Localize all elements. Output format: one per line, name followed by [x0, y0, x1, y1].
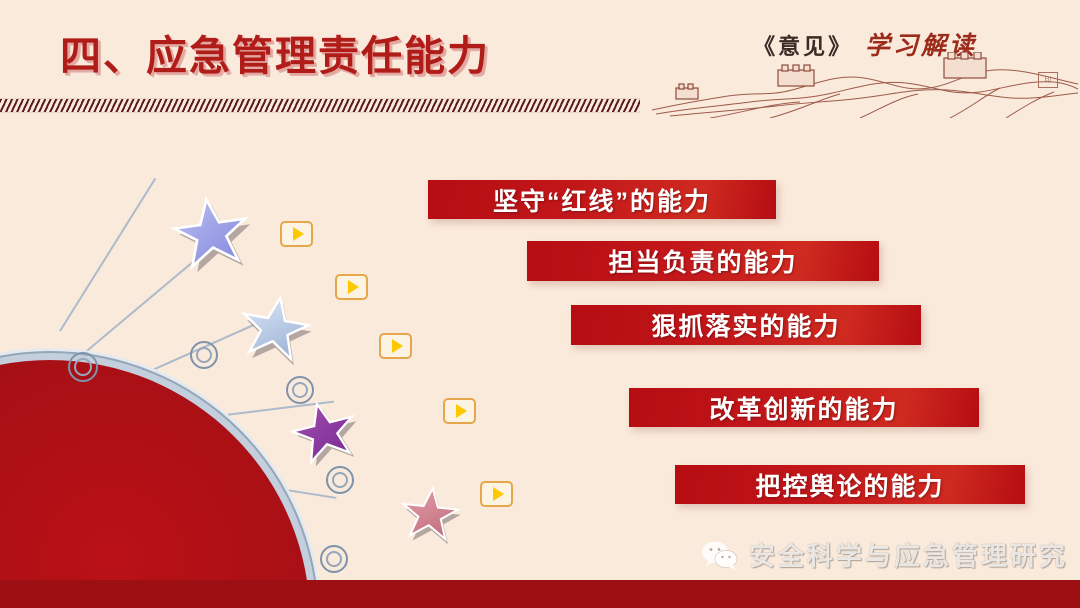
seal-icon: 印 [1038, 72, 1058, 88]
slide-canvas: 四、应急管理责任能力 《意见》 学习解读 [0, 0, 1080, 608]
capability-banner[interactable]: 坚守“红线”的能力 [428, 180, 776, 219]
wechat-icon [700, 540, 740, 570]
capability-banner-label: 坚守“红线”的能力 [493, 182, 711, 218]
capability-banner-label: 把控舆论的能力 [755, 467, 944, 503]
header-decoration: 《意见》 学习解读 [650, 0, 1080, 118]
capability-banner[interactable]: 担当负责的能力 [527, 241, 879, 281]
ray-line [59, 178, 156, 332]
capability-banner[interactable]: 狠抓落实的能力 [571, 305, 921, 345]
bottom-bar [0, 580, 1080, 608]
capability-banner-label: 改革创新的能力 [709, 390, 898, 426]
page-title: 四、应急管理责任能力 [60, 22, 490, 82]
great-wall-icon [650, 52, 1080, 118]
hub-quarter-circle [0, 360, 310, 608]
stripe-divider [0, 98, 640, 113]
capability-banner-label: 担当负责的能力 [608, 243, 797, 279]
capability-banner-label: 狠抓落实的能力 [651, 307, 840, 343]
capability-banner[interactable]: 把控舆论的能力 [675, 465, 1025, 504]
watermark: 安全科学与应急管理研究 [700, 536, 1068, 573]
watermark-text: 安全科学与应急管理研究 [749, 536, 1068, 573]
capability-banner[interactable]: 改革创新的能力 [629, 388, 979, 427]
